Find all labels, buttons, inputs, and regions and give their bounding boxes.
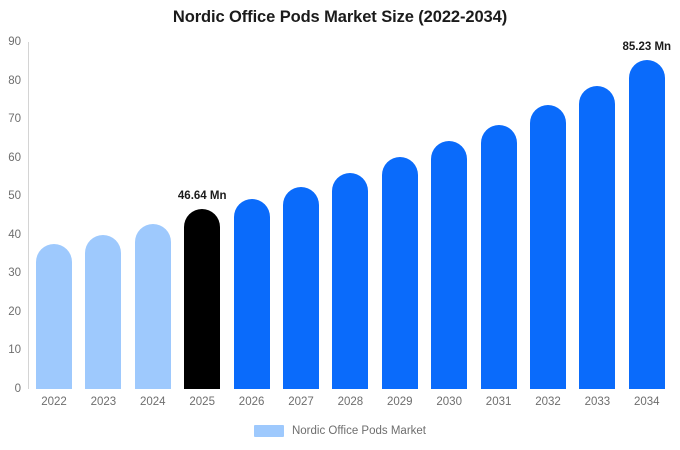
bar-2024[interactable] [135,224,171,389]
bar-2025[interactable] [184,209,220,389]
x-axis-tick-2023: 2023 [85,396,121,408]
y-axis-tick-30: 30 [8,267,21,279]
bar-slot [431,42,467,389]
y-axis-tick-20: 20 [8,306,21,318]
x-axis-tick-2022: 2022 [36,396,72,408]
y-axis-tick-90: 90 [8,36,21,48]
bar-2029[interactable] [382,157,418,389]
bar-slot [135,42,171,389]
bar-slot [332,42,368,389]
bar-2031[interactable] [481,125,517,389]
bar-2028[interactable] [332,173,368,389]
y-axis-tick-10: 10 [8,344,21,356]
bar-value-label-2025: 46.64 Mn [178,190,227,202]
bar-2032[interactable] [530,105,566,389]
x-axis-tick-2030: 2030 [431,396,467,408]
x-axis-tick-2028: 2028 [332,396,368,408]
bar-slot [234,42,270,389]
x-axis-tick-2025: 2025 [184,396,220,408]
y-axis-tick-70: 70 [8,113,21,125]
x-axis-tick-labels: 2022202320242025202620272028202920302031… [29,396,673,414]
bar-value-label-2034: 85.23 Mn [623,41,672,53]
x-axis-tick-2027: 2027 [283,396,319,408]
bar-2030[interactable] [431,141,467,389]
bar-slot [579,42,615,389]
bar-series: 46.64 Mn85.23 Mn [29,42,673,389]
plot-area: 9080706050403020100 46.64 Mn85.23 Mn [28,42,673,389]
y-axis-tick-50: 50 [8,190,21,202]
chart-title: Nordic Office Pods Market Size (2022-203… [0,8,680,27]
y-axis-tick-0: 0 [15,383,21,395]
bar-slot [382,42,418,389]
bar-2034[interactable] [629,60,665,389]
bar-chart: Nordic Office Pods Market Size (2022-203… [0,0,680,450]
x-axis-tick-2026: 2026 [234,396,270,408]
y-axis-tick-60: 60 [8,152,21,164]
chart-legend: Nordic Office Pods Market [0,425,680,437]
bar-slot: 46.64 Mn [184,42,220,389]
bar-slot [530,42,566,389]
x-axis-tick-2031: 2031 [481,396,517,408]
x-axis-tick-2032: 2032 [530,396,566,408]
bar-2027[interactable] [283,187,319,389]
bar-slot [85,42,121,389]
bar-slot [283,42,319,389]
bar-2026[interactable] [234,199,270,389]
x-axis-tick-2029: 2029 [382,396,418,408]
legend-swatch-icon [254,425,284,437]
bar-2022[interactable] [36,244,72,389]
bar-slot [481,42,517,389]
bar-slot [36,42,72,389]
x-axis-tick-2034: 2034 [629,396,665,408]
bar-slot: 85.23 Mn [629,42,665,389]
bar-2033[interactable] [579,86,615,389]
legend-label: Nordic Office Pods Market [292,425,426,437]
y-axis-tick-40: 40 [8,229,21,241]
x-axis-tick-2024: 2024 [135,396,171,408]
y-axis-tick-80: 80 [8,75,21,87]
x-axis-tick-2033: 2033 [579,396,615,408]
bar-2023[interactable] [85,235,121,389]
